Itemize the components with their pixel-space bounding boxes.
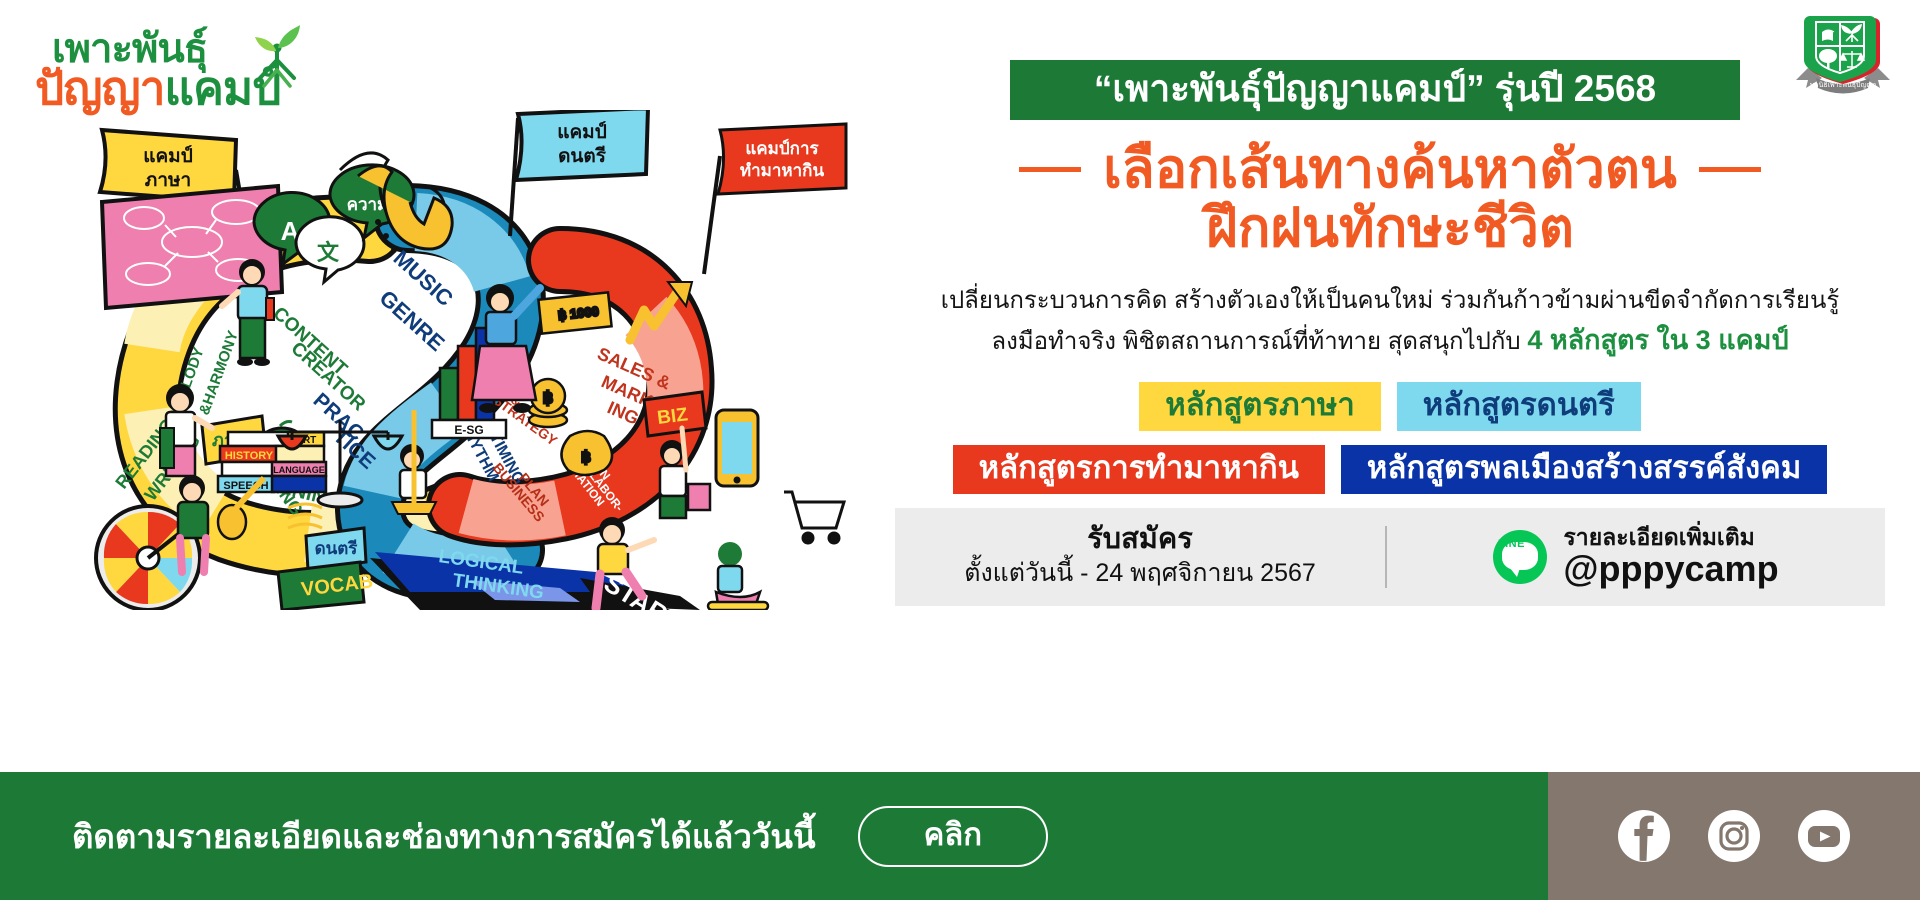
logo-line-2-orange: ปัญญา (35, 62, 164, 114)
application-period: รับสมัคร ตั้งแต่วันนี้ - 24 พฤศจิกายน 25… (895, 524, 1385, 589)
line-id: @pppycamp (1563, 550, 1778, 588)
bubble-letter-cjk: 文 (317, 240, 340, 266)
headline-line-2: ฝึกฝนทักษะชีวิต (895, 199, 1885, 258)
apply-dates: ตั้งแต่วันนี้ - 24 พฤศจิกายน 2567 (895, 558, 1385, 589)
headline-line-1: เลือกเส้นทางค้นหาตัวตน (1103, 142, 1677, 197)
shopping-cart-icon (784, 492, 844, 543)
headline-block: เลือกเส้นทางค้นหาตัวตน ฝึกฝนทักษะชีวิต (895, 142, 1885, 258)
course-tag-row-2: หลักสูตรการทำมาหากิน หลักสูตรพลเมืองสร้า… (895, 445, 1885, 494)
line-more-label: รายละเอียดเพิ่มเติม (1563, 525, 1778, 550)
click-button[interactable]: คลิก (858, 806, 1049, 867)
svg-text:ทำมาหากิน: ทำมาหากิน (740, 161, 825, 180)
course-tag-livelihood[interactable]: หลักสูตรการทำมาหากิน (953, 445, 1325, 494)
svg-text:LANGUAGE: LANGUAGE (273, 465, 325, 475)
body-line-1: เปลี่ยนกระบวนการคิด สร้างตัวเองให้เป็นคน… (895, 282, 1885, 319)
vocab-sign: VOCAB (278, 562, 374, 610)
course-tag-list: หลักสูตรภาษา หลักสูตรดนตรี หลักสูตรการทำ… (895, 382, 1885, 494)
instagram-icon[interactable] (1705, 807, 1763, 865)
svg-text:ภาษา: ภาษา (145, 170, 191, 191)
svg-text:แคมป์: แคมป์ (557, 121, 607, 143)
facebook-icon[interactable] (1615, 807, 1673, 865)
course-tag-language[interactable]: หลักสูตรภาษา (1139, 382, 1381, 431)
biz-sign: BIZ (644, 392, 706, 436)
line-contact-block[interactable]: LINE รายละเอียดเพิ่มเติม @pppycamp (1387, 525, 1885, 588)
smartphone-icon (716, 410, 758, 486)
headline-dash-right (1699, 167, 1761, 172)
svg-text:แคมป์: แคมป์ (143, 145, 193, 167)
body-line-2-highlight: 4 หลักสูตร ใน 3 แคมป์ (1527, 325, 1788, 355)
footer-social-section (1548, 772, 1920, 900)
promo-content: “เพาะพันธุ์ปัญญาแคมป์” รุ่นปี 2568 เลือก… (895, 60, 1885, 606)
body-line-2: ลงมือทำจริง พิชิตสถานการณ์ที่ท้าทาย สุดส… (895, 320, 1885, 362)
footer-message: ติดตามรายละเอียดและช่องทางการสมัครได้แล้… (72, 810, 816, 863)
svg-text:&HARMONY: &HARMONY (196, 329, 242, 418)
svg-text:ดนตรี: ดนตรี (315, 538, 359, 558)
course-tag-civic[interactable]: หลักสูตรพลเมืองสร้างสรรค์สังคม (1341, 445, 1827, 494)
body-line-2-pre: ลงมือทำจริง พิชิตสถานการณ์ที่ท้าทาย สุดส… (991, 328, 1527, 355)
headline-dash-left (1019, 167, 1081, 172)
svg-text:E-SG: E-SG (454, 423, 483, 437)
figure-shopper (660, 428, 710, 518)
footer-green-section: ติดตามรายละเอียดและช่องทางการสมัครได้แล้… (0, 772, 1548, 900)
line-contact-text: รายละเอียดเพิ่มเติม @pppycamp (1563, 525, 1778, 588)
line-app-icon[interactable]: LINE (1493, 530, 1547, 584)
sprout-person-icon (252, 20, 302, 96)
youtube-icon[interactable] (1795, 807, 1853, 865)
course-tag-row-1: หลักสูตรภาษา หลักสูตรดนตรี (895, 382, 1885, 431)
svg-text:BIZ: BIZ (656, 404, 689, 429)
book-stack: ART HISTORY LANGUAGE SPEECH (218, 432, 326, 492)
learning-path-illustration: CONTENT CREATOR SPEAKING READING& WRITIN… (40, 110, 860, 610)
body-copy: เปลี่ยนกระบวนการคิด สร้างตัวเองให้เป็นคน… (895, 282, 1885, 361)
application-info-panel: รับสมัคร ตั้งแต่วันนี้ - 24 พฤศจิกายน 25… (895, 508, 1885, 606)
svg-text:฿: ฿ (581, 449, 591, 466)
figure-skater (708, 542, 768, 610)
svg-text:HISTORY: HISTORY (225, 450, 274, 462)
apply-title: รับสมัคร (895, 524, 1385, 556)
course-tag-music[interactable]: หลักสูตรดนตรี (1397, 382, 1641, 431)
footer-bar: ติดตามรายละเอียดและช่องทางการสมัครได้แล้… (0, 772, 1920, 900)
svg-text:แคมป์การ: แคมป์การ (745, 138, 819, 158)
brand-logo: เพาะพันธุ์ ปัญญาแคมป์ (30, 12, 300, 112)
line-icon-word: LINE (1493, 530, 1529, 558)
flag-biz-camp: แคมป์การ ทำมาหากิน (704, 124, 846, 274)
svg-text:฿: ฿ (543, 390, 553, 407)
flag-music-camp: แคมป์ ดนตรี (510, 110, 648, 236)
campaign-title-banner: “เพาะพันธุ์ปัญญาแคมป์” รุ่นปี 2568 (1010, 60, 1740, 120)
banner-canvas: เพาะพันธุ์ ปัญญาแคมป์ มูลนิธิเพาะพันธุ์ป… (0, 0, 1920, 900)
svg-text:ดนตรี: ดนตรี (558, 145, 607, 167)
